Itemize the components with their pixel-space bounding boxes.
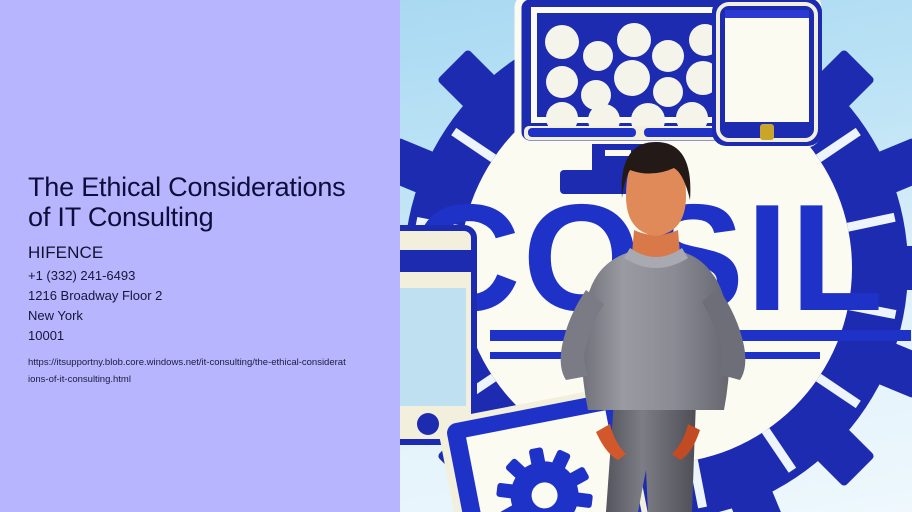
contact-city: New York [28, 306, 368, 326]
article-info-block: The Ethical Considerations of IT Consult… [28, 172, 368, 388]
source-url[interactable]: https://itsupportny.blob.core.windows.ne… [28, 354, 346, 388]
poster-canvas: The Ethical Considerations of IT Consult… [0, 0, 912, 512]
left-text-panel: The Ethical Considerations of IT Consult… [0, 0, 400, 512]
tablet-icon [712, 0, 822, 146]
illustration-panel: COSIL [400, 0, 912, 512]
it-consulting-illustration: COSIL [400, 0, 912, 512]
contact-postal-code: 10001 [28, 326, 368, 346]
page-title: The Ethical Considerations of IT Consult… [28, 172, 368, 232]
contact-phone: +1 (332) 241-6493 [28, 266, 368, 286]
smartphone-icon [400, 228, 474, 442]
company-name: HIFENCE [28, 242, 368, 263]
contact-street: 1216 Broadway Floor 2 [28, 286, 368, 306]
